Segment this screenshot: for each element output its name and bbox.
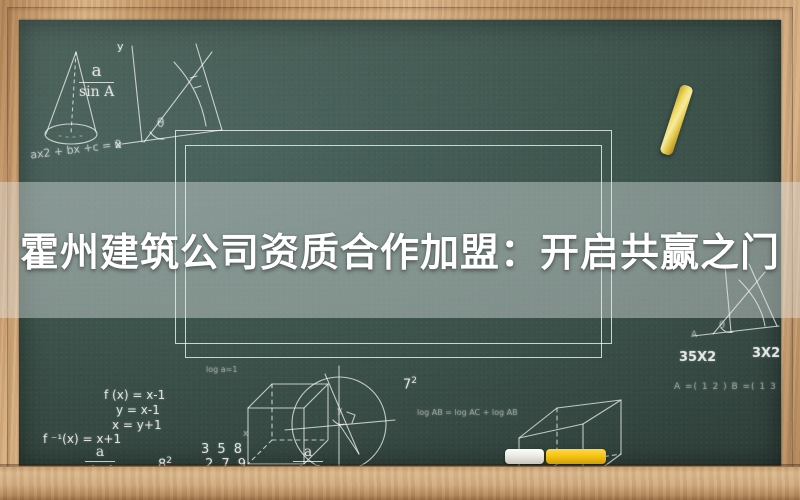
matrix-expression: A =( 1 2 ) B =( 1 3 ) C =( 1 3 ) <box>674 382 781 392</box>
unit-circle-diagram-icon <box>281 358 401 466</box>
white-chalk <box>505 449 544 464</box>
function-definition-line2: y = x-1 <box>116 403 160 417</box>
axis-label-x-bottomright: x <box>243 429 248 439</box>
angle-axes-diagram-icon <box>104 34 234 159</box>
function-definition-line3: x = y+1 <box>112 418 162 432</box>
fraction-a-over-sinA-bottomleft: a sin A <box>85 445 115 466</box>
fraction-a-over-sinA-topleft: a sin A <box>79 63 114 99</box>
cone-diagram-icon <box>33 46 113 156</box>
log-rule-center: log AB = log AC + log AB <box>417 408 518 417</box>
log-small-label: log a=1 <box>206 365 237 374</box>
matrix-label-3x2: 3X2 <box>752 346 780 361</box>
yellow-chalk <box>546 449 606 464</box>
angle-theta-label-topleft: θ <box>157 116 164 130</box>
angle-theta-label-right: θ <box>719 320 725 331</box>
cube-diagram-center-icon <box>236 378 346 466</box>
banner-image: a sin A y x θ ax2 + bx +c = 0 θ A <box>0 0 800 500</box>
addition-row-1: 3 5 8 <box>201 442 244 457</box>
inverse-function-text: f ⁻¹(x) = x+1 <box>43 432 121 446</box>
quadratic-equation-text: ax2 + bx +c = 0 <box>30 137 123 161</box>
fraction-a-over-sinA-bottomcenter: a sin A <box>293 445 323 466</box>
axis-label-a-right: A <box>691 330 697 340</box>
power-seven-squared: 72 <box>403 376 417 392</box>
function-definition-line1: f (x) = x-1 <box>104 388 165 402</box>
axis-label-x-topleft: x <box>115 138 122 151</box>
page-title: 霍州建筑公司资质合作加盟：开启共赢之门 <box>0 182 800 318</box>
axis-label-y-bottomright: y <box>337 406 342 416</box>
axis-label-y-topleft: y <box>117 40 124 53</box>
matrix-label-35x2: 35X2 <box>679 350 716 365</box>
chalk-ledge <box>0 467 800 500</box>
